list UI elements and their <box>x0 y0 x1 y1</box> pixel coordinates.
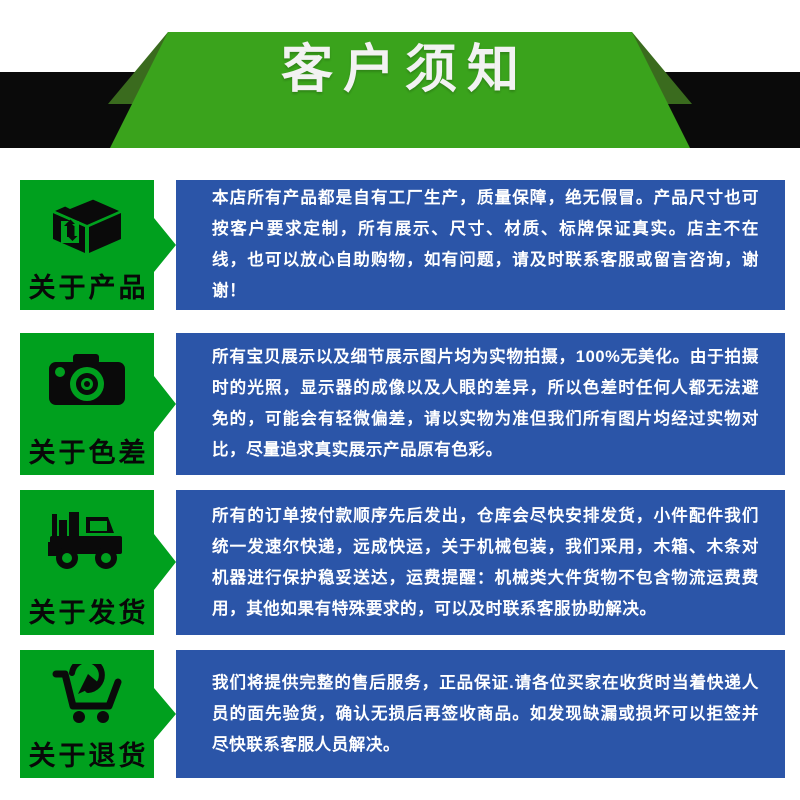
icon-label-return: 关于退货 <box>20 740 154 772</box>
page-header: 客户须知 <box>0 0 800 150</box>
notice-text-return: 我们将提供完整的售后服务，正品保证.请各位买家在收货时当着快递人员的面先验货，确… <box>176 668 785 761</box>
return-cart-icon <box>20 660 154 727</box>
notice-row-product: 关于产品 本店所有产品都是自有工厂生产，质量保障，绝无假冒。产品尺寸也可按客户要… <box>0 180 800 310</box>
icon-label-product: 关于产品 <box>20 272 154 304</box>
notice-text-panel-product: 本店所有产品都是自有工厂生产，质量保障，绝无假冒。产品尺寸也可按客户要求定制，所… <box>176 180 785 310</box>
notice-text-color: 所有宝贝展示以及细节展示图片均为实物拍摄，100%无美化。由于拍摄时的光照，显示… <box>176 342 785 466</box>
customer-notice-page: 客户须知 <box>0 0 800 800</box>
notice-row-color: 关于色差 所有宝贝展示以及细节展示图片均为实物拍摄，100%无美化。由于拍摄时的… <box>0 333 800 475</box>
notice-row-shipping: 关于发货 所有的订单按付款顺序先后发出，仓库会尽快安排发货，小件配件我们统一发速… <box>0 490 800 635</box>
notice-row-return: 关于退货 我们将提供完整的售后服务，正品保证.请各位买家在收货时当着快递人员的面… <box>0 650 800 778</box>
notice-text-panel-shipping: 所有的订单按付款顺序先后发出，仓库会尽快安排发货，小件配件我们统一发速尔快递，远… <box>176 490 785 635</box>
icon-box-return[interactable]: 关于退货 <box>20 650 176 778</box>
icon-label-color: 关于色差 <box>20 437 154 469</box>
icon-label-shipping: 关于发货 <box>20 597 154 629</box>
notice-text-product: 本店所有产品都是自有工厂生产，质量保障，绝无假冒。产品尺寸也可按客户要求定制，所… <box>176 183 785 307</box>
notice-text-panel-return: 我们将提供完整的售后服务，正品保证.请各位买家在收货时当着快递人员的面先验货，确… <box>176 650 785 778</box>
page-title: 客户须知 <box>0 40 800 100</box>
package-box-icon <box>20 190 154 258</box>
icon-box-shipping[interactable]: 关于发货 <box>20 490 176 635</box>
icon-box-color[interactable]: 关于色差 <box>20 333 176 475</box>
notice-text-shipping: 所有的订单按付款顺序先后发出，仓库会尽快安排发货，小件配件我们统一发速尔快递，远… <box>176 501 785 625</box>
forklift-truck-icon <box>20 502 154 577</box>
notice-text-panel-color: 所有宝贝展示以及细节展示图片均为实物拍摄，100%无美化。由于拍摄时的光照，显示… <box>176 333 785 475</box>
camera-icon <box>20 344 154 418</box>
icon-box-product[interactable]: 关于产品 <box>20 180 176 310</box>
